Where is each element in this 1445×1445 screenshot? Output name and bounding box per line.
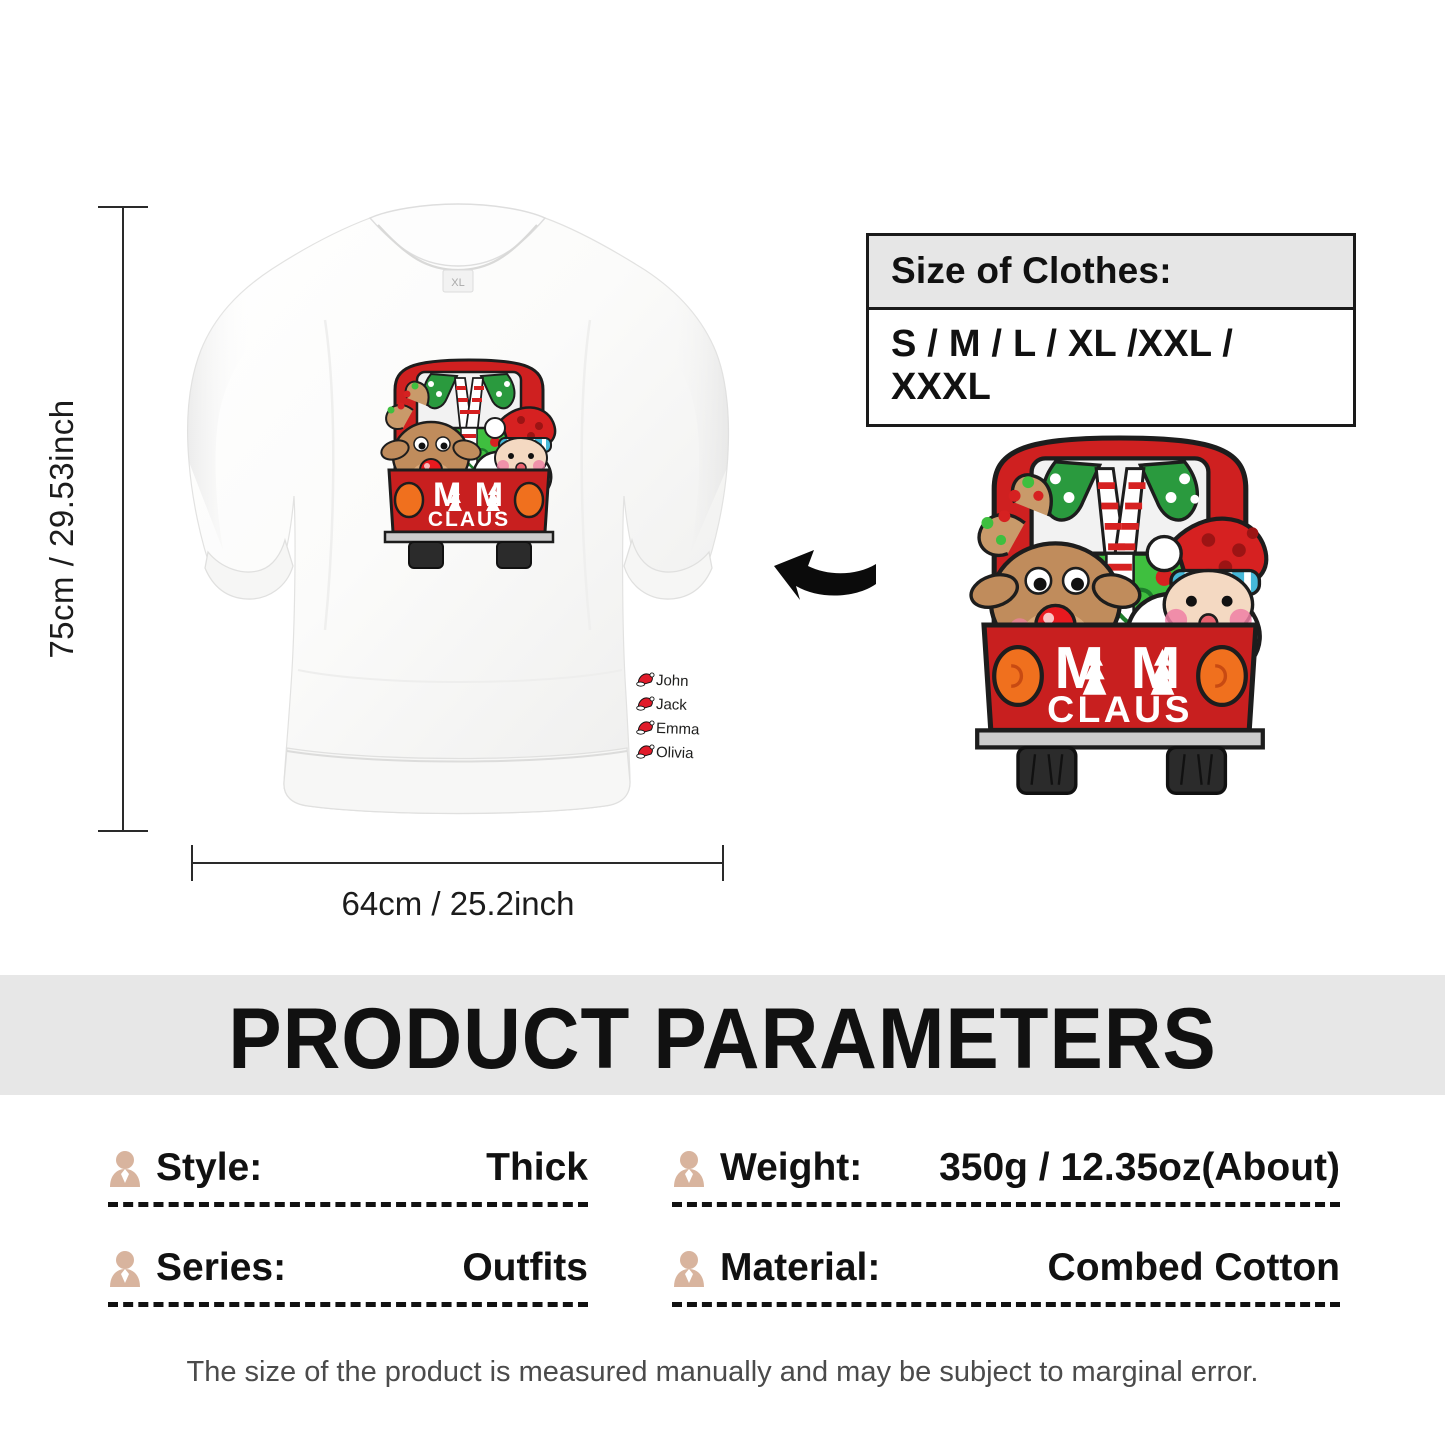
size-options-label: S / M / L / XL /XXL / XXXL (891, 323, 1331, 409)
product-photo-section: 75cm / 29.53inch 64cm / 25.2inch (0, 0, 1445, 975)
enlarged-design-artwork: M M CLAUS (950, 408, 1290, 808)
sleeve-name-label: Emma (656, 719, 700, 738)
svg-text:CLAUS: CLAUS (428, 508, 510, 531)
santa-hat-icon (636, 743, 656, 760)
person-icon (672, 1149, 706, 1187)
santa-hat-icon (636, 719, 656, 736)
divider (108, 1202, 588, 1207)
parameter-weight: Weight: 350g / 12.35oz(About) (672, 1138, 1340, 1207)
size-box-body: S / M / L / XL /XXL / XXXL (869, 310, 1353, 424)
divider (672, 1302, 1340, 1307)
width-measurement-label: 64cm / 25.2inch (192, 885, 724, 923)
size-box-header: Size of Clothes: (869, 236, 1353, 310)
parameter-value: Thick (486, 1146, 588, 1190)
list-item: Olivia (636, 740, 742, 766)
parameter-key: Style: (156, 1146, 262, 1190)
santa-hat-icon (636, 695, 656, 712)
santa-hat-icon (636, 671, 656, 688)
measurement-disclaimer: The size of the product is measured manu… (0, 1356, 1445, 1389)
width-dimension-cap-left (191, 845, 193, 881)
sleeve-name-label: John (656, 671, 689, 689)
person-icon (108, 1149, 142, 1187)
parameter-key: Weight: (720, 1146, 862, 1190)
person-icon (108, 1249, 142, 1287)
height-measurement-label: 75cm / 29.53inch (43, 299, 81, 759)
width-dimension-line (192, 862, 724, 864)
size-box-heading-label: Size of Clothes: (891, 250, 1331, 292)
list-item: Emma (636, 716, 742, 742)
height-dimension-cap-top (98, 206, 148, 208)
curved-arrow-icon (770, 528, 880, 608)
parameter-value: Combed Cotton (1048, 1246, 1340, 1290)
page-title: PRODUCT PARAMETERS (51, 990, 1395, 1089)
parameter-value: 350g / 12.35oz(About) (939, 1146, 1340, 1190)
height-dimension-line (122, 207, 124, 832)
divider (108, 1302, 588, 1307)
size-of-clothes-box: Size of Clothes: S / M / L / XL /XXL / X… (866, 233, 1356, 427)
svg-text:XL: XL (451, 277, 464, 289)
list-item: Jack (636, 692, 742, 718)
width-dimension-cap-right (722, 845, 724, 881)
list-item: John (636, 668, 742, 694)
product-parameters-table: Style: Thick Weight: 350g / 12.35oz(Abou… (0, 1110, 1445, 1340)
parameter-style: Style: Thick (108, 1138, 588, 1207)
parameter-key: Series: (156, 1246, 286, 1290)
parameter-value: Outfits (462, 1246, 588, 1290)
sleeve-personalized-names: John Jack Emma (636, 670, 741, 766)
chest-print-artwork: M M CLAUS (369, 350, 569, 570)
parameter-material: Material: Combed Cotton (672, 1238, 1340, 1307)
sleeve-name-label: Olivia (656, 743, 694, 761)
divider (672, 1202, 1340, 1207)
person-icon (672, 1249, 706, 1287)
parameter-key: Material: (720, 1246, 880, 1290)
parameter-series: Series: Outfits (108, 1238, 588, 1307)
product-listing-page: 75cm / 29.53inch 64cm / 25.2inch (0, 0, 1445, 1445)
sleeve-name-label: Jack (656, 695, 687, 713)
svg-text:CLAUS: CLAUS (1047, 688, 1193, 730)
height-dimension-cap-bottom (98, 830, 148, 832)
